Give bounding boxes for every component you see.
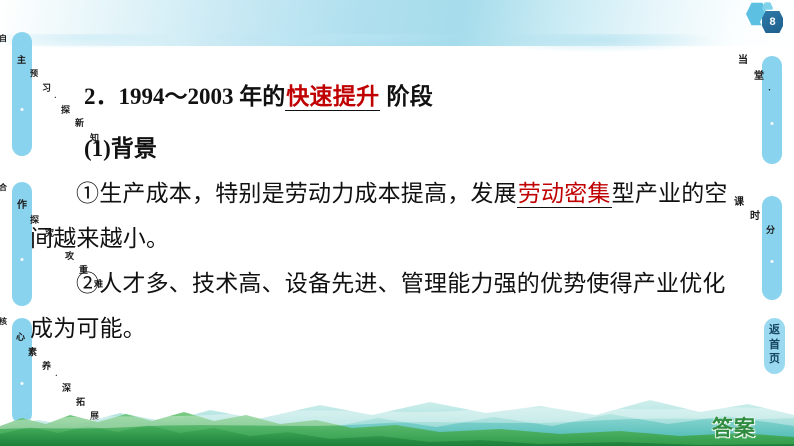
- answer-button[interactable]: 答案: [712, 412, 756, 442]
- slide-content: 2．1994～2003 年的快速提升 阶段 (1)背景 ①生产成本，特别是劳动力…: [0, 0, 794, 446]
- paragraph-2-line-1: ②人才多、技术高、设备先进、管理能力强的优势使得产业优化: [76, 264, 726, 298]
- heading-blank-answer: 快速提升: [285, 84, 380, 111]
- paragraph-1-blank-answer: 劳动密集: [517, 181, 612, 208]
- section-subheading: (1)背景: [84, 129, 157, 163]
- paragraph-1-text-after: 型产业的空: [612, 181, 728, 206]
- paragraph-1-text-before: ①生产成本，特别是劳动力成本提高，发展: [76, 181, 517, 206]
- heading-prefix: 2．1994～2003 年的: [84, 84, 285, 109]
- paragraph-1-line-1: ①生产成本，特别是劳动力成本提高，发展劳动密集型产业的空: [76, 174, 728, 208]
- paragraph-2-line-2: 成为可能。: [30, 309, 146, 343]
- slide-canvas: 8 自 主 预 习 · 探 新 知 合 作 探 究 · 攻 重 难 核 心 素 …: [0, 0, 794, 446]
- heading-suffix: 阶段: [380, 84, 433, 109]
- page-title: 2．1994～2003 年的快速提升 阶段: [84, 77, 433, 111]
- paragraph-2-text-before: ②人才多、技术高、设备先进、管理能力强的优势使得产业优化: [76, 271, 726, 296]
- paragraph-1-line-2: 间越来越小。: [30, 219, 169, 253]
